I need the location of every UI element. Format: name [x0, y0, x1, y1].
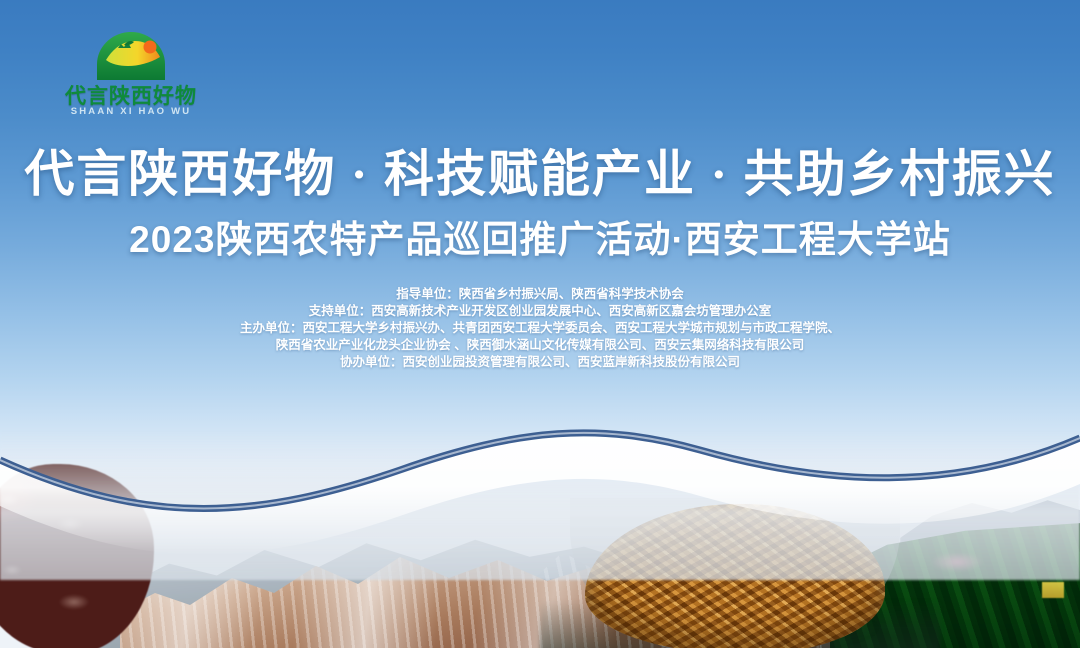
logo-pinyin-text: SHAAN XI HAO WU: [52, 106, 210, 117]
brand-logo[interactable]: 代言陕西好物 SHAAN XI HAO WU: [52, 30, 210, 112]
credit-line-guidance: 指导单位：陕西省乡村振兴局、陕西省科学技术协会: [0, 286, 1080, 303]
credit-line-coorganizer: 协办单位：西安创业园投资管理有限公司、西安蓝岸新科技股份有限公司: [0, 354, 1080, 371]
page-subtitle: 2023陕西农特产品巡回推广活动·西安工程大学站: [0, 209, 1080, 263]
credit-line-host-b: 陕西省农业产业化龙头企业协会 、陕西御水涵山文化传媒有限公司、西安云集网络科技有…: [0, 337, 1080, 354]
credit-line-support: 支持单位：西安高新技术产业开发区创业园发展中心、西安高新区嘉会坊管理办公室: [0, 303, 1080, 320]
atmospheric-haze: [0, 430, 1080, 580]
green-hill-sun-icon: [94, 30, 168, 82]
credit-line-host-a: 主办单位：西安工程大学乡村振兴办、共青团西安工程大学委员会、西安工程大学城市规划…: [0, 320, 1080, 337]
tea-field-hut: [1042, 582, 1064, 598]
promo-poster: 代言陕西好物 SHAAN XI HAO WU 代言陕西好物 · 科技赋能产业 ·…: [0, 0, 1080, 648]
organizer-credits: 指导单位：陕西省乡村振兴局、陕西省科学技术协会 支持单位：西安高新技术产业开发区…: [0, 286, 1080, 371]
page-title: 代言陕西好物 · 科技赋能产业 · 共助乡村振兴: [0, 134, 1080, 206]
